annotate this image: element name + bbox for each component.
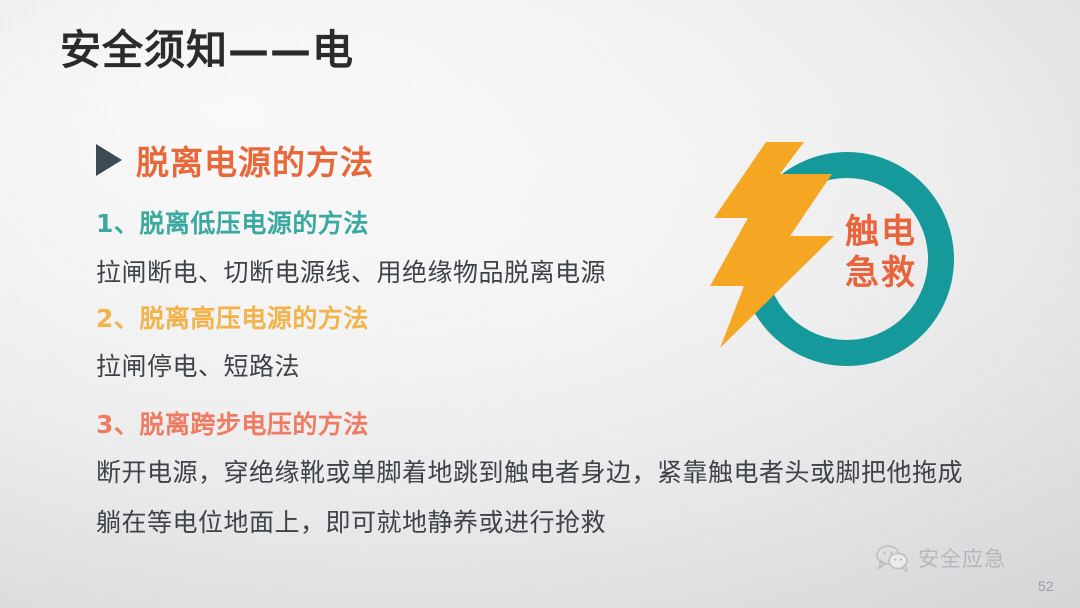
triangle-right-icon [96, 144, 122, 176]
section-heading-label: 脱离电源的方法 [136, 136, 374, 184]
page-title: 安全须知——电 [60, 16, 354, 76]
footer-brand-block: 安全应急 [876, 543, 1006, 573]
electric-shock-first-aid-graphic: 触电 急救 [700, 140, 990, 402]
subsection-body-3-line-1: 断开电源，穿绝缘靴或单脚着地跳到触电者身边，紧靠触电者头或脚把他拖成 [96, 453, 976, 489]
graphic-label-line-1: 触电 [816, 212, 946, 253]
page-number: 52 [1038, 578, 1054, 594]
subsection-heading-3: 3、脱离跨步电压的方法 [96, 405, 976, 441]
graphic-label: 触电 急救 [816, 212, 946, 295]
footer-brand-label: 安全应急 [918, 543, 1006, 573]
graphic-label-line-2: 急救 [816, 253, 946, 294]
section-heading: 脱离电源的方法 [96, 136, 374, 184]
spacer [96, 489, 976, 503]
wechat-icon [876, 544, 910, 572]
spacer [96, 441, 976, 453]
subsection-body-3-line-2: 躺在等电位地面上，即可就地静养或进行抢救 [96, 503, 976, 539]
slide-canvas: 安全须知——电 脱离电源的方法 1、脱离低压电源的方法 拉闸断电、切断电源线、用… [0, 0, 1080, 608]
